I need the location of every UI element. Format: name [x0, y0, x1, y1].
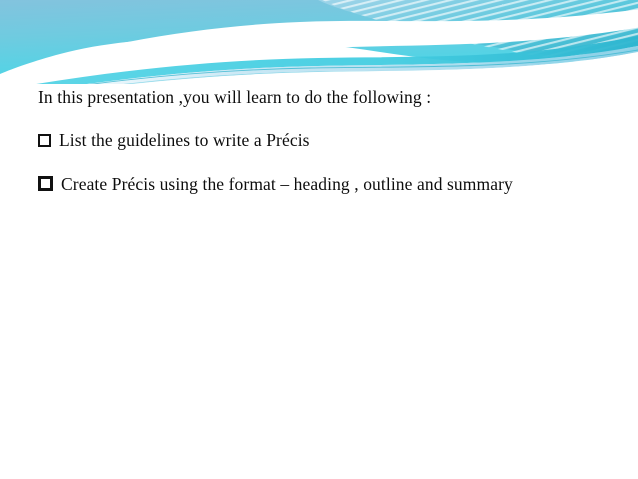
hollow-square-bullet-icon — [38, 134, 51, 147]
banner-cyan-band — [0, 36, 638, 84]
banner-hairline-2 — [0, 55, 638, 84]
presentation-slide: In this presentation ,you will learn to … — [0, 0, 638, 479]
slide-content: In this presentation ,you will learn to … — [38, 86, 604, 196]
banner-hairline-3 — [0, 60, 638, 84]
bullet-item-2-label: Create Précis using the format – heading… — [61, 174, 513, 194]
banner-pale-band — [0, 46, 638, 84]
bullet-item-2: Create Précis using the format – heading… — [38, 173, 604, 196]
banner-bottom-fill — [0, 52, 638, 84]
wave-banner — [0, 0, 638, 84]
wave-banner-graphic — [0, 0, 638, 84]
hollow-square-bullet-icon — [38, 176, 53, 191]
banner-hairline-1 — [0, 50, 638, 84]
bullet-item-1-label: List the guidelines to write a Précis — [59, 130, 310, 150]
banner-base-shape — [0, 0, 638, 74]
banner-stripes — [300, 0, 638, 84]
banner-right-shape — [318, 0, 638, 62]
bullet-item-1: List the guidelines to write a Précis — [38, 129, 604, 152]
banner-white-sweep — [0, 8, 638, 84]
intro-line: In this presentation ,you will learn to … — [38, 86, 604, 109]
